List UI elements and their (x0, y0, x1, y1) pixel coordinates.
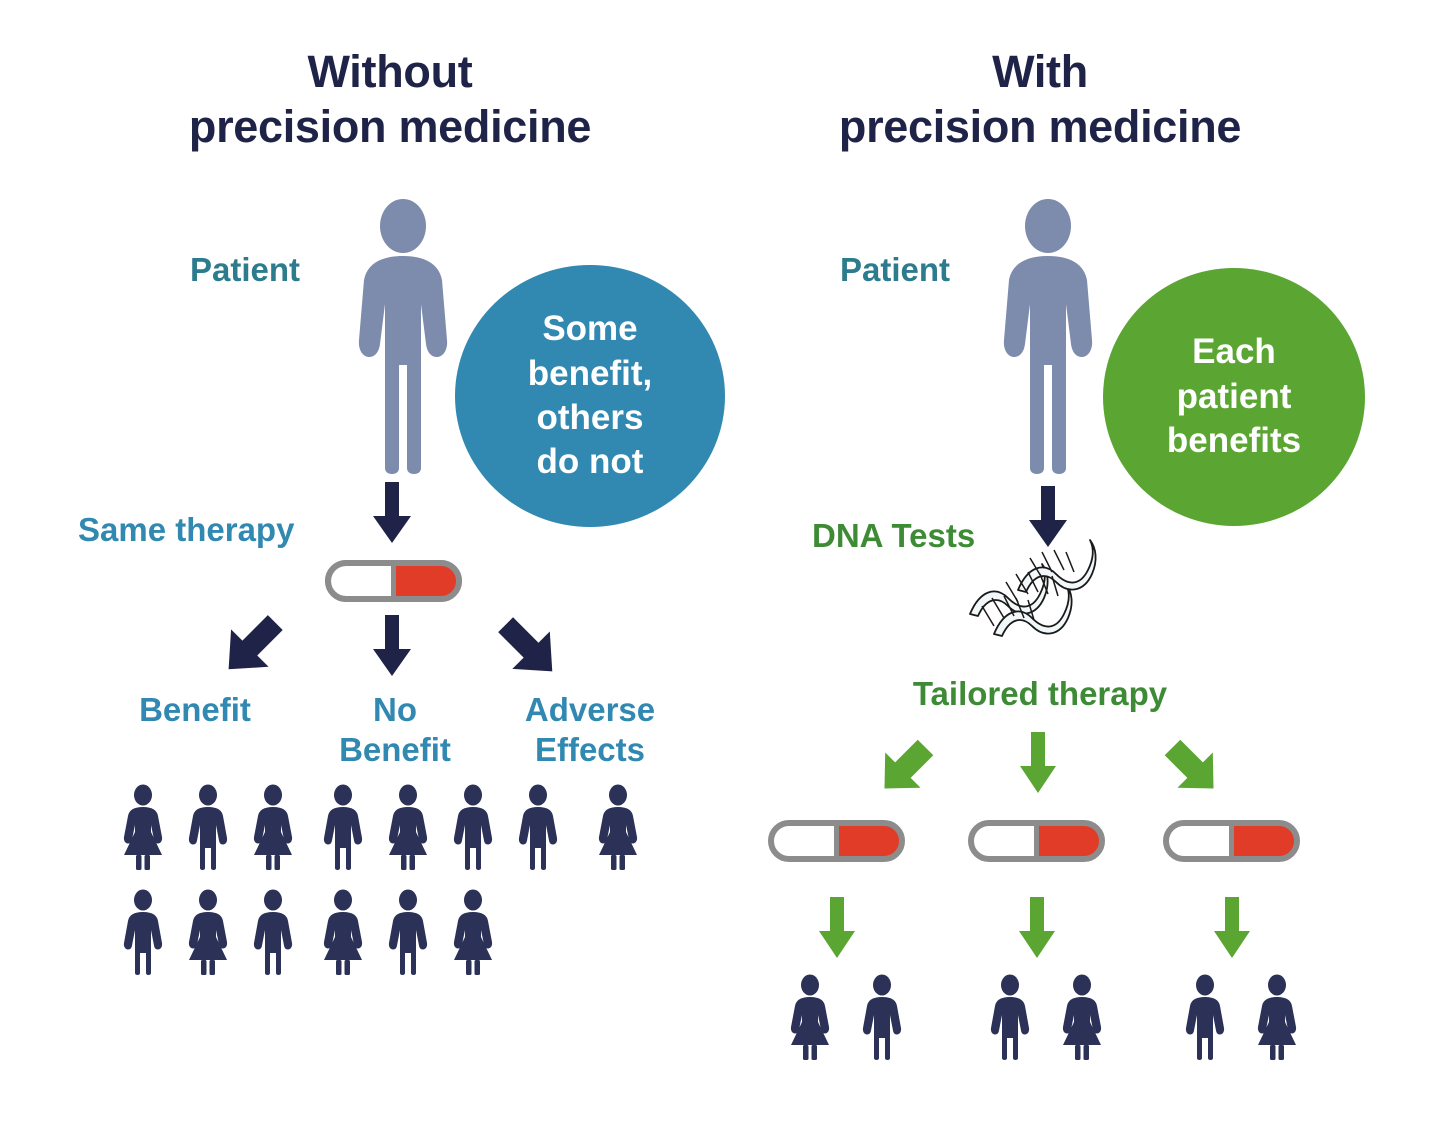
outcome-adverse-line-2: Effects (495, 730, 685, 770)
left-outcome-bubble: Some benefit, others do not (455, 265, 725, 527)
arrow-down-icon (1018, 897, 1056, 959)
outcome-label-no-benefit: No Benefit (305, 690, 485, 771)
people-row (318, 890, 498, 975)
tailored-pill-1 (768, 820, 905, 862)
person-female-icon (183, 890, 233, 975)
left-title-line-2: precision medicine (130, 100, 650, 155)
same-therapy-label: Same therapy (78, 512, 294, 548)
infographic-canvas: Without precision medicine Patient Some … (0, 0, 1440, 1125)
arrow-down-right-icon (1160, 735, 1226, 801)
right-bubble-line-3: benefits (1167, 419, 1301, 463)
left-bubble-line-1: Some (528, 307, 652, 351)
person-male-icon (857, 975, 907, 1060)
right-outcome-bubble: Each patient benefits (1103, 268, 1365, 526)
people-group-tailored-2 (985, 975, 1107, 1060)
people-group-adverse-effects (513, 785, 643, 870)
outcome-adverse-line-1: Adverse (495, 690, 685, 730)
outcome-no-benefit-line-2: Benefit (305, 730, 485, 770)
arrow-down-icon (1213, 897, 1251, 959)
people-row (318, 785, 498, 870)
arrow-down-icon (372, 482, 412, 544)
person-male-icon (1180, 975, 1230, 1060)
tailored-therapy-label: Tailored therapy (840, 676, 1240, 712)
person-female-icon (593, 785, 643, 870)
left-arrow-to-pill (372, 482, 412, 544)
dna-tests-label: DNA Tests (812, 518, 975, 554)
left-patient-figure (355, 200, 451, 475)
person-male-icon (985, 975, 1035, 1060)
person-female-icon (118, 785, 168, 870)
person-female-icon (1057, 975, 1107, 1060)
people-group-tailored-1 (785, 975, 907, 1060)
right-branch-arrow-1 (872, 735, 938, 801)
person-female-icon (1252, 975, 1302, 1060)
adult-person-icon (1000, 200, 1096, 475)
adult-person-icon (355, 200, 451, 475)
person-male-icon (248, 890, 298, 975)
left-branch-arrow-1 (218, 612, 288, 682)
tailored-pill-2 (968, 820, 1105, 862)
dna-helix-icon (960, 540, 1095, 640)
right-bubble-line-2: patient (1167, 375, 1301, 419)
right-patient-label: Patient (840, 252, 950, 288)
person-female-icon (448, 890, 498, 975)
capsule-pill-icon (325, 560, 462, 602)
person-male-icon (513, 785, 563, 870)
person-female-icon (383, 785, 433, 870)
outcome-label-benefit: Benefit (105, 690, 285, 730)
capsule-pill-icon (1163, 820, 1300, 862)
left-panel-title: Without precision medicine (130, 45, 650, 155)
left-branch-arrow-2 (372, 615, 412, 677)
left-title-line-1: Without (130, 45, 650, 100)
right-patient-figure (1000, 200, 1096, 475)
person-male-icon (383, 890, 433, 975)
pill-to-people-arrow-2 (1018, 897, 1056, 959)
people-group-no-benefit (318, 785, 498, 975)
arrow-down-left-icon (872, 735, 938, 801)
pill-to-people-arrow-1 (818, 897, 856, 959)
outcome-benefit-line-1: Benefit (105, 690, 285, 730)
people-group-tailored-3 (1180, 975, 1302, 1060)
capsule-pill-icon (768, 820, 905, 862)
right-bubble-line-1: Each (1167, 330, 1301, 374)
people-row (118, 785, 298, 870)
right-title-line-2: precision medicine (780, 100, 1300, 155)
right-panel-title: With precision medicine (780, 45, 1300, 155)
arrow-down-icon (372, 615, 412, 677)
same-therapy-pill (325, 560, 462, 602)
left-branch-arrow-3 (495, 612, 565, 682)
arrow-down-left-icon (218, 612, 288, 682)
arrow-down-icon (818, 897, 856, 959)
right-branch-arrow-2 (1019, 732, 1057, 794)
person-male-icon (118, 890, 168, 975)
right-branch-arrow-3 (1160, 735, 1226, 801)
people-group-benefit (118, 785, 298, 975)
left-patient-label: Patient (190, 252, 300, 288)
tailored-therapy-label-wrap: Tailored therapy (840, 676, 1240, 712)
left-bubble-line-2: benefit, (528, 352, 652, 396)
right-title-line-1: With (780, 45, 1300, 100)
person-female-icon (318, 890, 368, 975)
capsule-pill-icon (968, 820, 1105, 862)
pill-to-people-arrow-3 (1213, 897, 1251, 959)
person-male-icon (318, 785, 368, 870)
arrow-down-right-icon (495, 612, 565, 682)
outcome-no-benefit-line-1: No (305, 690, 485, 730)
outcome-label-adverse-effects: Adverse Effects (495, 690, 685, 771)
left-bubble-line-3: others (528, 396, 652, 440)
person-male-icon (183, 785, 233, 870)
people-row (118, 890, 298, 975)
person-female-icon (785, 975, 835, 1060)
arrow-down-icon (1028, 486, 1068, 548)
person-male-icon (448, 785, 498, 870)
person-female-icon (248, 785, 298, 870)
tailored-pill-3 (1163, 820, 1300, 862)
arrow-down-icon (1019, 732, 1057, 794)
right-arrow-to-dna (1028, 486, 1068, 548)
dna-helix-illustration (960, 540, 1095, 640)
left-bubble-line-4: do not (528, 440, 652, 484)
